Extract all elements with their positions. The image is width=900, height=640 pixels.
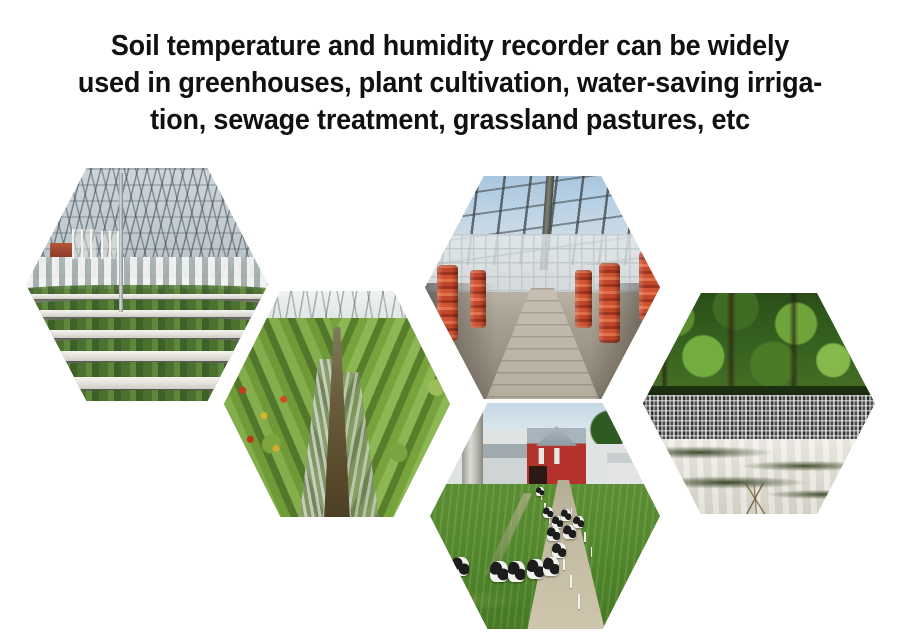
tree-trunks xyxy=(643,293,875,395)
cow-herd-lane-4 xyxy=(547,527,560,541)
hex-tile-sewage-treatment-weir xyxy=(643,293,875,514)
greenhouse-rack-left xyxy=(72,229,96,259)
greenhouse-cart xyxy=(50,243,72,257)
cow-herd-lane-7 xyxy=(552,543,566,558)
cow-pasture-4 xyxy=(527,559,544,579)
red-planter-tower-3 xyxy=(575,270,591,328)
cow-herd-lane-6 xyxy=(573,516,585,528)
cow-pasture-3 xyxy=(508,561,525,581)
greenhouse-red-towers-image xyxy=(425,176,660,399)
red-planter-tower-5 xyxy=(639,250,660,321)
floating-branch xyxy=(722,483,792,514)
greenhouse-seedling-beds-image xyxy=(26,168,268,401)
hex-tile-plant-cultivation-rows xyxy=(224,291,450,517)
cow-herd-lane-3 xyxy=(561,509,571,520)
red-planter-tower-2 xyxy=(470,270,486,328)
red-planter-tower-4 xyxy=(599,263,620,343)
greenhouse-rack-right xyxy=(101,231,120,259)
weir-spillway xyxy=(643,395,875,441)
sewage-treatment-weir-image xyxy=(643,293,875,514)
ripening-fruit-cluster xyxy=(229,372,306,462)
hex-tile-grassland-pasture-dairy xyxy=(430,403,660,629)
plant-cultivation-rows-image xyxy=(224,291,450,517)
red-planter-tower-1 xyxy=(437,265,458,341)
grassland-pasture-dairy-image xyxy=(430,403,660,629)
greenhouse-support-pole xyxy=(119,173,123,313)
cow-pasture-1 xyxy=(451,557,469,576)
cow-pasture-5 xyxy=(543,557,559,576)
cow-herd-lane-8 xyxy=(536,487,544,496)
hex-tile-greenhouse-seedling-beds xyxy=(26,168,268,401)
hexagon-image-collage xyxy=(0,0,900,640)
planter-bed-rows xyxy=(26,282,268,401)
grain-silo xyxy=(462,410,483,487)
barn-windows xyxy=(536,448,577,464)
cow-pasture-2 xyxy=(490,561,508,581)
farm-shed-white xyxy=(607,453,651,487)
hex-tile-greenhouse-red-towers xyxy=(425,176,660,399)
